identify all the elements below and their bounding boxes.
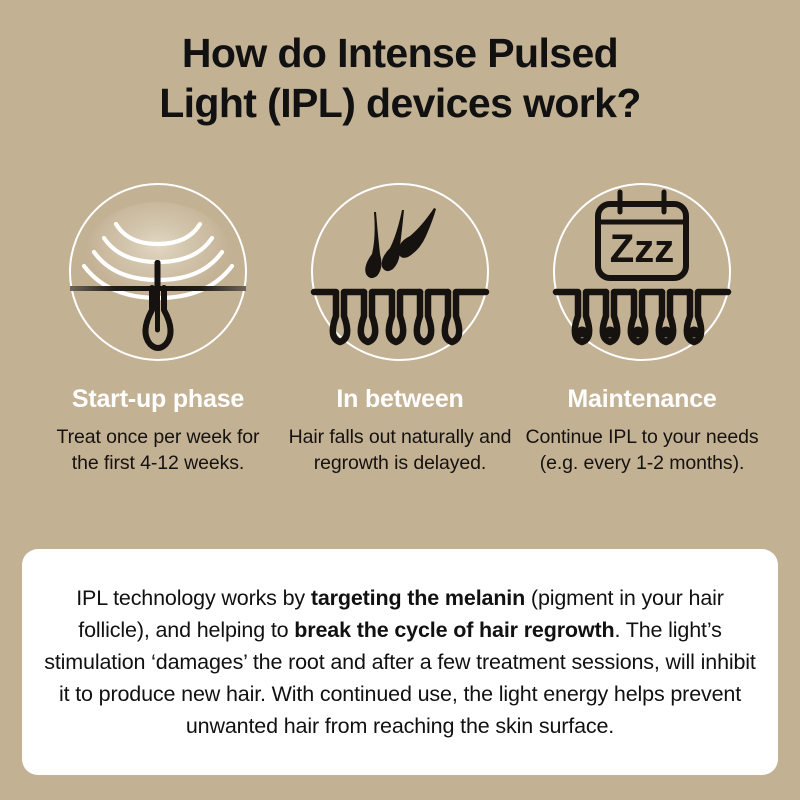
calendar-zzz-label: Zzz [610,227,674,271]
phase-column-start-up: Start-up phase Treat once per week for t… [38,182,278,476]
calendar-icon: Zzz [598,192,686,278]
phase-body-start-up: Treat once per week for the first 4-12 w… [41,424,276,476]
phase-body-in-between: Hair falls out naturally and regrowth is… [283,424,518,476]
phase-heading-maintenance: Maintenance [567,384,716,414]
phase-heading-start-up: Start-up phase [72,384,244,414]
phase-column-in-between: In between Hair falls out naturally and … [280,182,520,476]
page-title: How do Intense Pulsed Light (IPL) device… [0,28,800,128]
phase-body-maintenance: Continue IPL to your needs (e.g. every 1… [525,424,760,476]
phase-column-maintenance: Zzz [522,182,762,476]
title-line-2: Light (IPL) devices work? [60,78,740,128]
falling-hairs-follicles-icon [310,182,490,362]
phase-columns: Start-up phase Treat once per week for t… [0,182,800,476]
explanation-paragraph: IPL technology works by targeting the me… [22,582,778,742]
light-waves-follicle-icon [68,182,248,362]
emphasis-text: break the cycle of hair regrowth [294,618,614,642]
title-line-1: How do Intense Pulsed [60,28,740,78]
emphasis-text: targeting the melanin [311,586,525,610]
infographic-root: How do Intense Pulsed Light (IPL) device… [0,0,800,800]
body-text: IPL technology works by [76,586,311,610]
calendar-zzz-dormant-follicles-icon: Zzz [552,182,732,362]
phase-heading-in-between: In between [336,384,463,414]
explanation-panel: IPL technology works by targeting the me… [22,549,778,775]
